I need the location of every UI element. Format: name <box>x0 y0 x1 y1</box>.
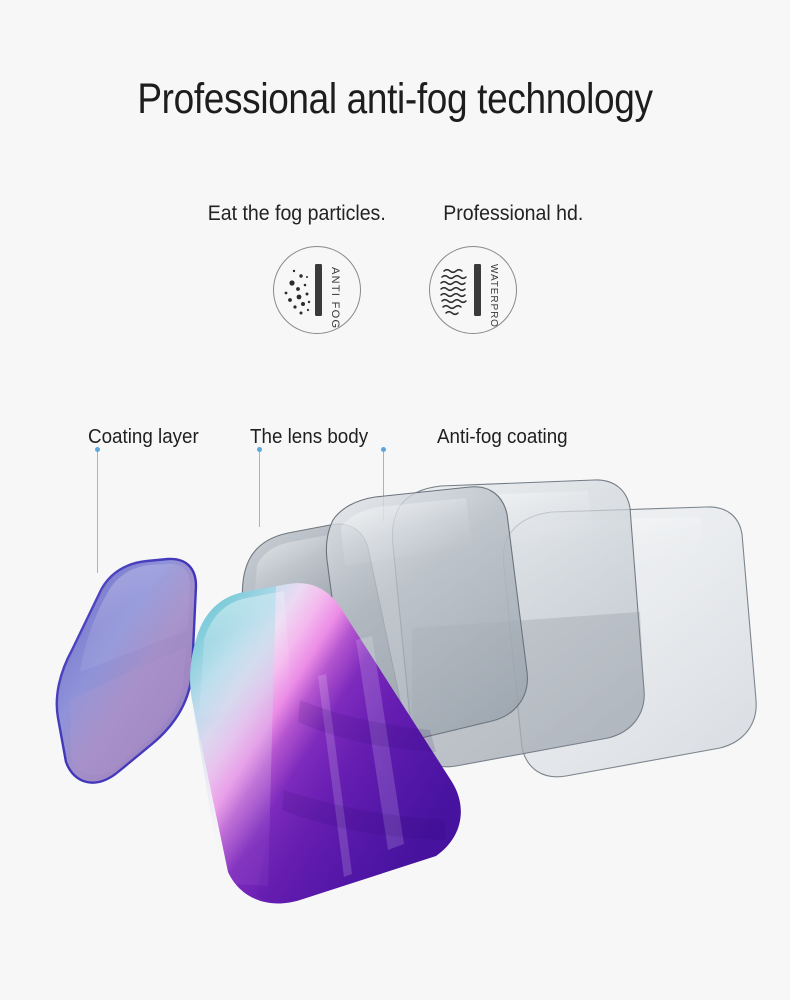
lens-illustration <box>0 0 790 1000</box>
product-infographic: Professional anti-fog technology Eat the… <box>0 0 790 1000</box>
lens-coating-layer <box>57 559 196 783</box>
